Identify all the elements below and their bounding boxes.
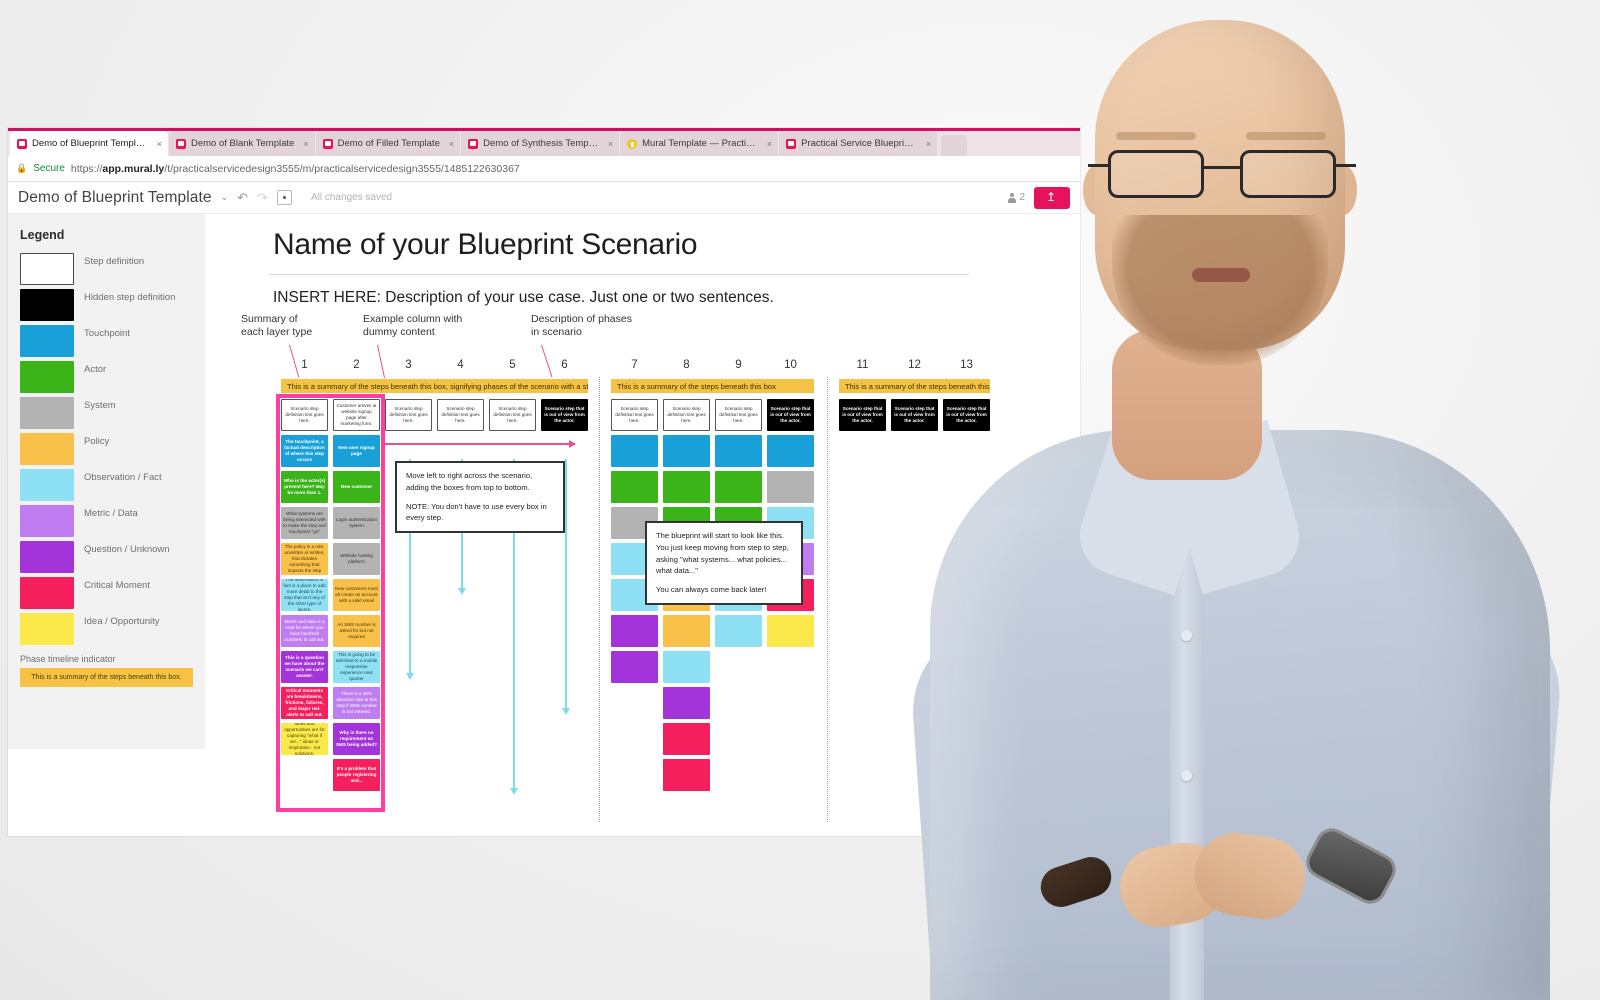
annotation-line: Summary of bbox=[241, 313, 312, 326]
annotation-line: dummy content bbox=[363, 326, 462, 339]
browser-tab-5[interactable]: Practical Service Blueprint Tem× bbox=[779, 131, 937, 156]
annotation-line: Description of phases bbox=[531, 313, 632, 326]
annotation-line: Example column with bbox=[363, 313, 462, 326]
legend-swatch bbox=[20, 253, 74, 285]
browser-tab-4[interactable]: Mural Template — Practical Se× bbox=[620, 131, 778, 156]
phase-timeline-label: Phase timeline indicator bbox=[20, 654, 193, 664]
legend-item-0: Step definition bbox=[20, 253, 193, 285]
browser-tab-label: Demo of Synthesis Template bbox=[483, 138, 599, 149]
annotation-line: in scenario bbox=[531, 326, 632, 339]
browser-tab-label: Demo of Blueprint Template bbox=[32, 138, 148, 149]
column-number-3: 3 bbox=[397, 359, 421, 371]
legend-item-10: Idea / Opportunity bbox=[20, 613, 193, 645]
legend-swatch bbox=[20, 577, 74, 609]
blueprint-cell-actor[interactable] bbox=[663, 471, 710, 503]
legend-panel: Legend Step definitionHidden step defini… bbox=[8, 214, 205, 749]
phase-divider-1 bbox=[827, 377, 828, 822]
mural-favicon bbox=[176, 139, 186, 149]
page-subtitle[interactable]: INSERT HERE: Description of your use cas… bbox=[263, 275, 1080, 307]
blueprint-cell-question[interactable] bbox=[663, 687, 710, 719]
legend-item-6: Observation / Fact bbox=[20, 469, 193, 501]
instruction-note-paragraph: NOTE: You don't have to use every box in… bbox=[406, 501, 554, 525]
legend-swatch bbox=[20, 361, 74, 393]
blueprint-cell-system[interactable]: Login authentication system bbox=[333, 507, 380, 539]
share-button[interactable] bbox=[1034, 187, 1070, 209]
blueprint-cell-observation[interactable]: The observation or fact is a place to ad… bbox=[281, 579, 328, 611]
legend-item-label: Touchpoint bbox=[84, 325, 130, 339]
blueprint-cell-policy[interactable] bbox=[663, 615, 710, 647]
blueprint-cell-system[interactable]: Website hosting platform bbox=[333, 543, 380, 575]
browser-url-bar[interactable]: 🔒 Secure https://app.mural.ly/t/practica… bbox=[8, 156, 1080, 182]
legend-item-2: Touchpoint bbox=[20, 325, 193, 357]
blueprint-cell-hidden-step[interactable]: Scenario step that is out of view from t… bbox=[943, 399, 990, 431]
legend-item-label: Question / Unknown bbox=[84, 541, 170, 555]
instruction-note-paragraph: You can always come back later! bbox=[656, 584, 792, 596]
instruction-note-paragraph: Move left to right across the scenario, … bbox=[406, 470, 554, 494]
column-number-11: 11 bbox=[851, 359, 875, 371]
legend-item-label: System bbox=[84, 397, 116, 411]
blueprint-cell-hidden-step[interactable]: Scenario step that is out of view from t… bbox=[541, 399, 588, 431]
mural-favicon bbox=[468, 139, 478, 149]
collaborator-count[interactable]: 2 bbox=[1008, 192, 1025, 203]
browser-tab-strip: Demo of Blueprint Template×Demo of Blank… bbox=[8, 128, 1080, 156]
legend-heading: Legend bbox=[20, 228, 193, 242]
column-number-2: 2 bbox=[345, 359, 369, 371]
mural-title[interactable]: Demo of Blueprint Template bbox=[18, 189, 212, 207]
blueprint-cell-question[interactable] bbox=[611, 615, 658, 647]
annotation-0: Summary ofeach layer type bbox=[241, 313, 312, 340]
lock-icon: 🔒 bbox=[16, 163, 27, 174]
blueprint-cell-critical[interactable]: Critical moments are breakdowns, frictio… bbox=[281, 687, 328, 719]
annotation-line: each layer type bbox=[241, 326, 312, 339]
blueprint-cell-step[interactable]: Scenario step definition text goes here. bbox=[611, 399, 658, 431]
blueprint-cell-touchpoint[interactable] bbox=[715, 435, 762, 467]
annotation-2: Description of phasesin scenario bbox=[531, 313, 632, 340]
blueprint-board: Name of your Blueprint Scenario INSERT H… bbox=[263, 214, 1080, 836]
blueprint-cell-step[interactable]: Scenario step definition text goes here. bbox=[663, 399, 710, 431]
new-tab-button[interactable] bbox=[941, 135, 967, 156]
legend-swatch bbox=[20, 289, 74, 321]
blueprint-cell-step[interactable]: Scenario step definition text goes here. bbox=[281, 399, 328, 431]
legend-item-label: Policy bbox=[84, 433, 109, 447]
legend-item-5: Policy bbox=[20, 433, 193, 465]
blueprint-cell-actor[interactable] bbox=[715, 471, 762, 503]
column-number-12: 12 bbox=[903, 359, 927, 371]
instruction-note-0[interactable]: Move left to right across the scenario, … bbox=[395, 461, 565, 533]
blueprint-cell-observation[interactable] bbox=[715, 615, 762, 647]
top-to-bottom-arrow-3 bbox=[565, 459, 567, 709]
blueprint-cell-step[interactable]: Customer arrives at website signup page … bbox=[333, 399, 380, 431]
browser-tab-3[interactable]: Demo of Synthesis Template× bbox=[461, 131, 619, 156]
legend-item-1: Hidden step definition bbox=[20, 289, 193, 321]
legend-item-label: Metric / Data bbox=[84, 505, 138, 519]
blueprint-cell-touchpoint[interactable] bbox=[767, 435, 814, 467]
secure-label: Secure bbox=[33, 163, 65, 174]
page-title[interactable]: Name of your Blueprint Scenario bbox=[263, 214, 1080, 262]
tab-close-icon[interactable]: × bbox=[157, 139, 162, 149]
column-number-9: 9 bbox=[727, 359, 751, 371]
blueprint-cell-idea[interactable]: Ideas and opportunities are for capturin… bbox=[281, 723, 328, 755]
legend-item-4: System bbox=[20, 397, 193, 429]
blueprint-cell-metric[interactable]: Metric and data is a note for where you … bbox=[281, 615, 328, 647]
legend-swatch bbox=[20, 397, 74, 429]
blueprint-cell-step[interactable]: Scenario step definition text goes here. bbox=[489, 399, 536, 431]
instruction-note-paragraph: The blueprint will start to look like th… bbox=[656, 530, 792, 577]
tab-close-icon[interactable]: × bbox=[926, 139, 931, 149]
column-number-10: 10 bbox=[779, 359, 803, 371]
legend-swatch bbox=[20, 433, 74, 465]
legend-item-label: Step definition bbox=[84, 253, 144, 267]
browser-window: Demo of Blueprint Template×Demo of Blank… bbox=[8, 128, 1080, 836]
browser-tab-0[interactable]: Demo of Blueprint Template× bbox=[10, 131, 168, 156]
legend-swatch bbox=[20, 469, 74, 501]
phase-banner-0[interactable]: This is a summary of the steps beneath t… bbox=[281, 379, 588, 393]
blueprint-cell-hidden-step[interactable]: Scenario step that is out of view from t… bbox=[891, 399, 938, 431]
column-number-7: 7 bbox=[623, 359, 647, 371]
browser-tab-label: Mural Template — Practical Se bbox=[642, 138, 758, 149]
blueprint-cell-observation[interactable] bbox=[663, 651, 710, 683]
blueprint-cell-hidden-step[interactable]: Scenario step that is out of view from t… bbox=[767, 399, 814, 431]
chevron-down-icon[interactable]: ⌄ bbox=[221, 192, 229, 203]
tab-close-icon[interactable]: × bbox=[767, 139, 772, 149]
record-dot-button[interactable] bbox=[277, 190, 292, 205]
mural-favicon bbox=[786, 139, 796, 149]
mural-canvas[interactable]: Legend Step definitionHidden step defini… bbox=[8, 214, 1080, 836]
blueprint-cell-system[interactable] bbox=[767, 471, 814, 503]
legend-item-7: Metric / Data bbox=[20, 505, 193, 537]
blueprint-cell-question[interactable]: Why is there no requirement on SMS being… bbox=[333, 723, 380, 755]
legend-item-label: Idea / Opportunity bbox=[84, 613, 160, 627]
legend-item-3: Actor bbox=[20, 361, 193, 393]
blueprint-grid: 12345678910111213This is a summary of th… bbox=[269, 359, 1080, 836]
browser-tab-label: Demo of Filled Template bbox=[338, 138, 440, 149]
column-number-5: 5 bbox=[501, 359, 525, 371]
mural-favicon bbox=[323, 139, 333, 149]
blueprint-cell-touchpoint[interactable]: The touchpoint, a factual description of… bbox=[281, 435, 328, 467]
blueprint-cell-metric[interactable]: There is a 20% abandon rate at this step… bbox=[333, 687, 380, 719]
blueprint-cell-observation[interactable]: This is going to be switched to a mobile… bbox=[333, 651, 380, 683]
browser-tab-label: Demo of Blank Template bbox=[191, 138, 294, 149]
left-to-right-arrow bbox=[385, 443, 575, 445]
column-number-6: 6 bbox=[553, 359, 577, 371]
legend-item-9: Critical Moment bbox=[20, 577, 193, 609]
blueprint-cell-idea[interactable] bbox=[767, 615, 814, 647]
blueprint-cell-critical[interactable]: It's a problem that people registering a… bbox=[333, 759, 380, 791]
legend-item-label: Critical Moment bbox=[84, 577, 150, 591]
blueprint-cell-critical[interactable] bbox=[663, 759, 710, 791]
mural-app-bar: Demo of Blueprint Template ⌄ ↶ ↷ All cha… bbox=[8, 182, 1080, 214]
tab-close-icon[interactable]: × bbox=[449, 139, 454, 149]
blueprint-cell-policy[interactable]: The policy is a rule, unwritten or writt… bbox=[281, 543, 328, 575]
blueprint-cell-touchpoint[interactable] bbox=[611, 435, 658, 467]
browser-tab-1[interactable]: Demo of Blank Template× bbox=[169, 131, 315, 156]
save-status: All changes saved bbox=[311, 192, 392, 203]
tab-close-icon[interactable]: × bbox=[608, 139, 613, 149]
column-number-8: 8 bbox=[675, 359, 699, 371]
legend-swatch bbox=[20, 613, 74, 645]
legend-swatch bbox=[20, 505, 74, 537]
person-icon bbox=[1008, 193, 1016, 203]
phase-banner-1[interactable]: This is a summary of the steps beneath t… bbox=[611, 379, 814, 393]
legend-swatch bbox=[20, 325, 74, 357]
instruction-note-1[interactable]: The blueprint will start to look like th… bbox=[645, 521, 803, 605]
blueprint-cell-hidden-step[interactable]: Scenario step that is out of view from t… bbox=[839, 399, 886, 431]
blueprint-cell-critical[interactable] bbox=[663, 723, 710, 755]
mural-favicon bbox=[17, 139, 27, 149]
blueprint-cell-step[interactable]: Scenario step definition text goes here. bbox=[715, 399, 762, 431]
browser-tab-2[interactable]: Demo of Filled Template× bbox=[316, 131, 461, 156]
browser-tab-label: Practical Service Blueprint Tem bbox=[801, 138, 917, 149]
annotation-1: Example column withdummy content bbox=[363, 313, 462, 340]
blueprint-cell-touchpoint[interactable] bbox=[663, 435, 710, 467]
tab-close-icon[interactable]: × bbox=[303, 139, 308, 149]
undo-icon[interactable]: ↶ bbox=[237, 190, 248, 206]
collaborator-count-value: 2 bbox=[1019, 192, 1025, 203]
blueprint-cell-actor[interactable] bbox=[611, 471, 658, 503]
blueprint-cell-step[interactable]: Scenario step definition text goes here. bbox=[437, 399, 484, 431]
legend-item-label: Hidden step definition bbox=[84, 289, 175, 303]
url-text: https://app.mural.ly/t/practicalserviced… bbox=[71, 163, 520, 175]
phase-divider-0 bbox=[599, 377, 600, 822]
redo-icon[interactable]: ↷ bbox=[257, 190, 268, 206]
phase-timeline-sample: This is a summary of the steps beneath t… bbox=[20, 668, 193, 687]
column-number-1: 1 bbox=[293, 359, 317, 371]
legend-item-8: Question / Unknown bbox=[20, 541, 193, 573]
blueprint-cell-actor[interactable]: Who is the actor(s) present here? May be… bbox=[281, 471, 328, 503]
blueprint-cell-step[interactable]: Scenario step definition text goes here. bbox=[385, 399, 432, 431]
phase-banner-2[interactable]: This is a summary of the steps beneath t… bbox=[839, 379, 990, 393]
bulb-favicon bbox=[627, 139, 637, 149]
blueprint-cell-question[interactable] bbox=[611, 651, 658, 683]
column-number-13: 13 bbox=[955, 359, 979, 371]
blueprint-cell-system[interactable]: What systems are being interacted with t… bbox=[281, 507, 328, 539]
legend-item-label: Observation / Fact bbox=[84, 469, 162, 483]
blueprint-cell-touchpoint[interactable]: New user signup page bbox=[333, 435, 380, 467]
legend-swatch bbox=[20, 541, 74, 573]
blueprint-cell-policy[interactable]: New customers must all create an account… bbox=[333, 579, 380, 611]
blueprint-cell-question[interactable]: This is a question we have about the sce… bbox=[281, 651, 328, 683]
blueprint-cell-actor[interactable]: New customer bbox=[333, 471, 380, 503]
column-number-4: 4 bbox=[449, 359, 473, 371]
legend-item-label: Actor bbox=[84, 361, 106, 375]
blueprint-cell-policy[interactable]: An SMS number is asked for but not requi… bbox=[333, 615, 380, 647]
